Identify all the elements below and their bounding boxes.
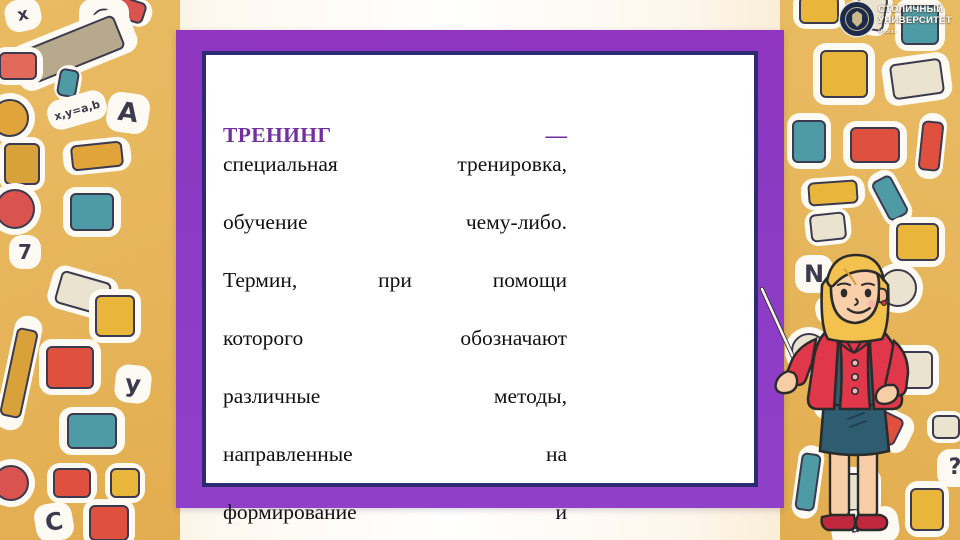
logo-tagline: Москва	[878, 27, 952, 38]
term-label: ТРЕНИНГ	[223, 121, 331, 150]
folder-icon-glyph	[799, 0, 839, 24]
apple-icon-glyph	[89, 505, 129, 540]
apple-icon	[86, 502, 132, 540]
letter-y-icon: y	[116, 367, 149, 402]
letter-x-icon: x	[6, 0, 41, 31]
desk-lamp-icon	[66, 190, 118, 234]
university-seal-icon	[840, 2, 874, 36]
content-frame: ТРЕНИНГ — специальная тренировка,обучени…	[176, 30, 784, 508]
desk-lamp-icon-glyph	[70, 193, 115, 231]
university-logo-text: СТОЛИЧНЫЙ УНИВЕРСИТЕТ Москва	[878, 2, 952, 38]
open-book-teal-icon	[62, 410, 122, 452]
hourglass-icon	[790, 116, 828, 166]
eyeglasses-icon	[803, 178, 863, 208]
definition-line: обучение чему-либо.	[223, 208, 567, 266]
dna-helix-icon-glyph	[4, 143, 39, 184]
definition-text: ТРЕНИНГ — специальная тренировка,обучени…	[223, 121, 567, 540]
em-dash: —	[546, 121, 568, 150]
content-card: ТРЕНИНГ — специальная тренировка,обучени…	[202, 51, 758, 487]
sticker-band-left: x☺x,y=a,bA7yC	[0, 0, 180, 540]
molecule-icon-glyph	[53, 468, 91, 499]
flask-icon-glyph	[56, 68, 80, 98]
paper-plane-icon	[807, 210, 850, 244]
crayon-icon	[917, 115, 945, 177]
ruler-triangle-icon-glyph	[889, 57, 946, 101]
magnifier-icon-glyph	[0, 465, 29, 502]
definition-line: направленные на	[223, 440, 567, 498]
crayon-icon-glyph	[918, 120, 944, 173]
eyeglasses-icon-glyph	[808, 179, 859, 207]
test-tube-icon	[867, 169, 913, 226]
math-formula-icon: x,y=a,b	[48, 91, 107, 129]
letter-c-icon: C	[35, 503, 72, 540]
definition-line: которого обозначают	[223, 324, 567, 382]
speech-bubbles-icon-glyph	[850, 127, 899, 164]
basketball-icon	[0, 96, 32, 140]
ruler-triangle-icon	[883, 54, 950, 104]
pencil-icon-glyph	[0, 327, 39, 419]
puzzle-piece-icon	[108, 466, 142, 500]
definition-line: Термин, при помощи	[223, 266, 567, 324]
brain-icon	[0, 50, 40, 82]
definition-line: различные методы,	[223, 382, 567, 440]
molecule-icon	[50, 466, 94, 500]
dna-helix-icon	[2, 140, 42, 188]
logo-line-1: СТОЛИЧНЫЙ	[878, 5, 952, 16]
logo-line-2: УНИВЕРСИТЕТ	[878, 16, 952, 27]
university-logo: СТОЛИЧНЫЙ УНИВЕРСИТЕТ Москва	[840, 2, 952, 38]
speech-bubbles-icon	[846, 124, 904, 166]
number-7-icon: 7	[12, 238, 38, 266]
trophy-icon-glyph	[820, 50, 868, 98]
open-book-teal-icon-glyph	[67, 413, 118, 450]
term-headline: ТРЕНИНГ —	[223, 121, 567, 150]
teacher-with-pointer-illustration	[752, 241, 952, 540]
eyeglasses-icon	[65, 139, 130, 173]
lightbulb-icon	[92, 292, 138, 340]
flask-icon	[56, 66, 81, 99]
magnifier-icon	[0, 462, 32, 504]
brain-icon-glyph	[0, 52, 37, 81]
puzzle-piece-icon-glyph	[110, 468, 141, 499]
slide: x☺x,y=a,bA7yC Nx,y=a,b?a+b ТРЕНИНГ — спе…	[0, 0, 960, 540]
definition-lines: специальная тренировка,обучение чему-либ…	[223, 150, 567, 540]
hourglass-icon-glyph	[792, 120, 826, 163]
basketball-icon-glyph	[0, 99, 29, 137]
definition-line: формирование и	[223, 498, 567, 540]
dart-board-icon	[0, 186, 38, 232]
test-tube-icon-glyph	[870, 173, 911, 223]
paper-plane-icon-glyph	[809, 212, 847, 243]
open-book-red-icon-glyph	[46, 346, 94, 389]
folder-icon	[796, 0, 842, 26]
eyeglasses-icon-glyph	[70, 140, 125, 171]
open-book-red-icon	[42, 342, 98, 392]
trophy-icon	[816, 46, 872, 102]
dart-board-icon-glyph	[0, 189, 35, 229]
letter-a-icon: A	[108, 94, 148, 133]
pencil-icon	[0, 317, 41, 429]
lightbulb-icon-glyph	[95, 295, 135, 336]
definition-line: специальная тренировка,	[223, 150, 567, 208]
